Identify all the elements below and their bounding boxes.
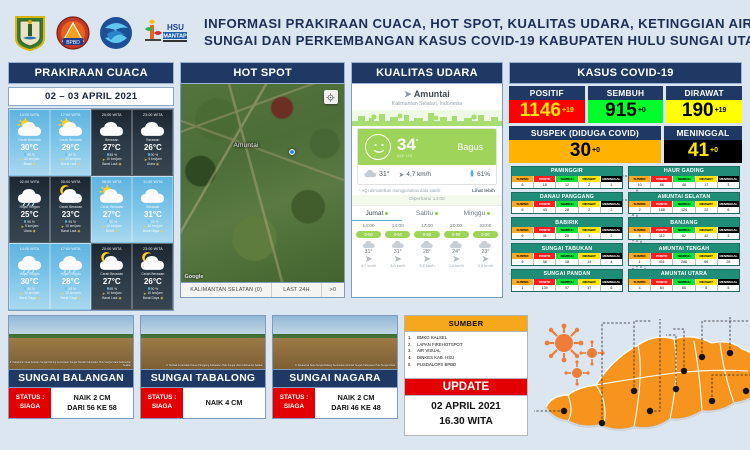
district-value-row: 4846665 [629,285,739,291]
source-item: 1.BMKG KALSEL [408,335,523,342]
hotspot-satellite-map[interactable]: Amuntai Google [180,84,345,283]
update-body: 02 APRIL 2021 16.30 WITA [404,396,528,436]
air-quality-note-row: * AQI dimodelkan menggunakan data sateli… [352,185,502,195]
update-date: 02 APRIL 2021 [405,400,527,415]
aqi-number: 34 [397,135,416,154]
bottom-row: Jl. Pakapuran Desa Antasan Sungai Muning… [0,311,750,448]
air-quality-note: * AQI dimodelkan menggunakan data sateli… [359,188,440,193]
air-quality-city: ➤ Amuntai [352,89,502,100]
source-item: 2.LAPAN FIREHOTSPOT [408,342,523,349]
covid-stat-box: MENINGGAL41+0 [664,126,742,163]
source-title: SUMBER [404,315,528,332]
cloud-icon [134,184,171,206]
district-value: 2 [601,207,622,213]
map-terrain-texture [181,84,344,282]
gps-target-icon[interactable] [324,90,338,104]
hour-wind: 3,6 km/h [412,263,441,268]
hour-aqi-range: 0-50 [385,231,410,238]
river-level-change: NAIK 4 CM [183,388,265,418]
metric-temp-value: 31° [379,171,390,178]
district-value: 168 [651,207,673,213]
district-value: 4 [601,259,622,265]
hour-aqi-range: 0-50 [444,231,469,238]
weather-cell-desc: Cerah Berawan [52,139,89,143]
district-card[interactable]: HAUR GADINGSUSPEKPOSITIFSEMBUHDIRAWATMEN… [628,166,740,189]
air-quality-hourly: 14:000-5031°➤4,7 km/h14:000-5031°➤3,6 km… [352,221,502,268]
covid-stat-value: 1146 [520,100,561,121]
covid-stat-label: SEMBUH [588,86,664,100]
district-value: 4 [629,285,651,291]
river-status-row: STATUS :SIAGANAIK 2 CMDARI 56 KE 58 [8,388,134,419]
weather-cell-desc: Cerah Berawan [93,206,130,210]
district-name: BABIRIK [512,218,622,227]
district-value-row: 6432822 [512,207,622,213]
weather-cell-time: 14:00 WITA [11,247,48,251]
district-value: 1 [579,233,601,239]
district-card[interactable]: AMUNTAI SELATANSUSPEKPOSITIFSEMBUHDIRAWA… [628,192,740,215]
weather-cell-winddir: Barat Daya ◉ [134,229,171,233]
hsu-mantap-logo-icon: HSU MANTAP [141,14,189,52]
metric-temperature: 31° [364,169,390,180]
source-list: 1.BMKG KALSEL2.LAPAN FIREHOTSPOT3.AIR VI… [404,332,528,379]
weather-cell-winddir: Barat Laut ◉ [93,162,130,166]
district-value: 3 [718,182,739,188]
district-value: 18 [534,182,556,188]
rain-cloud-icon [11,251,48,273]
virus-icon-group [545,324,605,386]
covid-stats-row-2: SUSPEK (DIDUGA COVID)30+0MENINGGAL41+0 [509,126,742,163]
wind-direction-icon: ➤ [412,255,441,263]
district-value: 17 [579,285,601,291]
river-status-value: SIAGA [20,403,40,412]
cloud-icon [354,240,383,249]
covid-stat-label: MENINGGAL [664,126,742,140]
map-city-label: Amuntai [233,142,258,149]
air-quality-day-tab[interactable]: Sabtu [402,206,452,221]
district-name: AMUNTAI TENGAH [629,244,739,253]
district-value: 3 [718,233,739,239]
district-value: 66 [696,259,718,265]
water-drop-icon [469,169,475,180]
weather-cell-desc: Berawan [134,139,171,143]
district-card[interactable]: AMUNTAI UTARASUSPEKPOSITIFSEMBUHDIRAWATM… [628,269,740,292]
source-item-number: 3. [408,348,414,355]
aqi-value-block: 34° AQI US [397,136,418,158]
hour-time: 20:00 [442,224,471,229]
district-name: DANAU PANGGANG [512,193,622,202]
cloud-icon [364,169,377,180]
air-quality-updated: Diperbarui 14:00 [352,195,502,205]
river-status-label: STATUS : [16,394,45,403]
district-value: 2 [579,207,601,213]
metric-humidity: 61% [469,169,490,180]
moon-cloud-icon [93,251,130,273]
weather-cell-time: 05:00 WITA [52,180,89,184]
district-value: 84 [651,285,673,291]
district-value: 6 [512,207,534,213]
district-value: 124 [673,207,695,213]
district-card[interactable]: BANJANGSUSPEKPOSITIFSEMBUHDIRAWATMENINGG… [628,217,740,240]
hour-aqi-range: 0-50 [356,231,381,238]
district-value: 66 [673,285,695,291]
weather-cell: 14:00 WITAHujan Ringan30°C80 %➤10 km/jam… [9,243,50,310]
weather-cell-temp: 28°C [52,277,89,287]
hotspot-legend-bar: KALIMANTAN SELATAN (0) LAST 24H >0 [180,283,345,298]
river-name: SUNGAI BALANGAN [8,370,134,388]
covid-stat-box: POSITIF1146+19 [509,86,585,123]
weather-cell-temp: 27°C [93,277,130,287]
river-panel: Jl. Sukaramai Desa Sungai Malang Kecamat… [272,315,398,419]
district-value: 14 [579,259,601,265]
page-title: INFORMASI PRAKIRAAN CUACA, HOT SPOT, KUA… [204,16,750,50]
kabupaten-hsu-crest-icon [12,14,48,52]
river-status-value: SIAGA [284,403,304,412]
river-change: NAIK 4 CM [206,398,243,408]
hour-aqi-range: 0-50 [414,231,439,238]
happy-face-icon [365,134,391,160]
sun-cloud-icon [11,117,48,139]
weather-cell: 05:00 WITACerah Berawan23°C95 %➤10 km/ja… [50,176,91,243]
air-quality-hour-cell: 20:000-5024°➤3,6 km/h [442,224,471,268]
district-card[interactable]: BABIRIKSUSPEKPOSITIFSEMBUHDIRAWATMENINGG… [511,217,623,240]
weather-cell-time: 02:00 WITA [11,180,48,184]
svg-text:BPBD: BPBD [66,40,80,46]
update-title: UPDATE [404,379,528,396]
air-quality-header: ➤ Amuntai Kalimantan Selatan, Indonesia [352,84,502,108]
district-value: 5 [718,285,739,291]
district-name: HAUR GADING [629,167,739,176]
air-quality-hour-cell: 14:000-5031°➤3,6 km/h [383,224,412,268]
weather-cell-temp: 26°C [134,277,171,287]
sun-cloud-icon [93,184,130,206]
covid-stat-delta: +0 [638,107,646,114]
weather-cell-temp: 27°C [93,210,130,220]
source-item-label: AIR VISUAL [417,348,441,355]
covid-stat-label: POSITIF [509,86,585,100]
hour-wind: 3,6 km/h [442,263,471,268]
weather-cell-time: 14:00 WITA [11,113,48,117]
district-value: 6 [512,233,534,239]
river-level-change: NAIK 2 CMDARI 46 KE 48 [315,388,397,418]
cloud-icon [134,117,171,139]
weather-cell-temp: 31°C [134,210,171,220]
covid-stat-box: SUSPEK (DIDUGA COVID)30+0 [509,126,661,163]
covid-stat-value-box: 915+0 [588,100,664,123]
wind-direction-icon: ➤ [383,255,412,263]
moon-cloud-icon [134,251,171,273]
air-quality-day-tab[interactable]: Minggu [452,206,502,221]
weather-cell-winddir: Barat ◉ [11,162,48,166]
covid-stats-row-1: POSITIF1146+19SEMBUH915+0DIRAWAT190+19 [509,86,742,123]
weather-grid: 14:00 WITACerah Berawan30°C80 %➤20 km/ja… [8,108,174,311]
river-status: STATUS :SIAGA [273,388,315,418]
district-value: 66 [651,182,673,188]
weather-cell-temp: 23°C [52,210,89,220]
district-name: BANJANG [629,218,739,227]
aqi-quality-label: Bagus [457,142,483,152]
photo-caption: Jl. Sukaramai Desa Sungai Malang Kecamat… [295,365,395,368]
weather-cell-time: 23:00 WITA [134,247,171,251]
district-value-row: 611262423 [629,233,739,239]
weather-cell-temp: 27°C [93,143,130,153]
district-value: 48 [673,182,695,188]
district-value: 6 [601,285,622,291]
covid-stat-value: 915 [605,100,637,121]
district-name: SUNGAI TABUKAN [512,244,622,253]
source-item-label: PUSDALOPS BPBD [417,362,456,369]
river-detail: DARI 56 KE 58 [67,403,117,413]
weather-cell: 20:00 WITABerawan27°C85 %➤10 km/jamBarat… [91,109,132,176]
air-quality-day-tab[interactable]: Jumat [352,206,402,221]
weather-cell: 02:00 WITAHujan Ringan25°C95 %➤5 km/jamU… [9,176,50,243]
source-update-panel: SUMBER 1.BMKG KALSEL2.LAPAN FIREHOTSPOT3… [404,315,528,436]
page-header: BPBD HSU MANTAP [0,0,750,62]
district-value: 12 [556,182,578,188]
source-item-label: LAPAN FIREHOTSPOT [417,342,463,349]
district-value: 97 [556,285,578,291]
covid-stat-label: SUSPEK (DIDUGA COVID) [509,126,661,140]
weather-cell-time: 17:00 WITA [52,113,89,117]
air-quality-body: ➤ Amuntai Kalimantan Selatan, Indonesia [351,84,503,298]
weather-cell-desc: Cerah Berawan [93,273,130,277]
district-value: 6 [512,259,534,265]
sun-cloud-icon [52,117,89,139]
air-quality-metrics: 31° ➤ 4,7 km/h 61% [358,165,496,184]
aqi-value: 34° [397,136,418,153]
weather-cell-desc: Cerah Berawan [11,139,48,143]
air-quality-region: Kalimantan Selatan, Indonesia [352,101,502,107]
hour-wind: 3,6 km/h [383,263,412,268]
covid-stat-value-box: 41+0 [664,140,742,163]
district-value: 41 [534,233,556,239]
logo-group: BPBD HSU MANTAP [12,14,189,52]
title-line-2: SUNGAI DAN PERKEMBANGAN KASUS COVID-19 K… [204,33,750,50]
weather-cell-desc: Hujan Ringan [52,273,89,277]
district-value: 28 [556,233,578,239]
weather-cell-time: 23:00 WITA [134,113,171,117]
weather-cell-desc: Berawan [93,139,130,143]
air-quality-hour-cell: 17:000-5028°➤3,6 km/h [412,224,441,268]
water-gauge-photo: Jl. Sukaramai Desa Sungai Malang Kecamat… [272,315,398,370]
hour-time: 14:00 [354,224,383,229]
air-quality-panel: KUALITAS UDARA ➤ Amuntai Kalimantan Sela… [351,62,503,298]
district-value: 22 [696,207,718,213]
cloud-icon [383,240,412,249]
district-value: 112 [651,233,673,239]
district-value-row: 14012886626 [629,259,739,265]
source-item: 3.AIR VISUAL [408,348,523,355]
district-value: 2 [601,233,622,239]
svg-text:HSU: HSU [167,23,184,32]
hotspot-count-label[interactable]: >0 [322,283,344,297]
district-value: 6 [696,285,718,291]
hotspot-region-label[interactable]: KALIMANTAN SELATAN (0) [181,283,272,297]
cloud-icon [93,117,130,139]
air-quality-city-label: Amuntai [414,89,450,99]
district-column-left: PAMINGGIRSUSPEKPOSITIFSEMBUHDIRAWATMENIN… [511,166,623,295]
district-value: 2 [629,207,651,213]
bridge-river-photo: Jl. Pakapuran Desa Antasan Sungai Muning… [8,315,134,370]
update-time: 16.30 WITA [405,415,527,430]
district-value: 43 [534,207,556,213]
air-quality-more-link[interactable]: Lihat lebih [472,188,495,193]
river-status: STATUS :SIAGA [141,388,183,418]
covid-stat-value-box: 1146+19 [509,100,585,123]
district-card[interactable]: DANAU PANGGANGSUSPEKPOSITIFSEMBUHDIRAWAT… [511,192,623,215]
district-value: 1 [512,285,534,291]
district-value-row: 2168124226 [629,207,739,213]
hotspot-panel: HOT SPOT Amuntai Google [180,62,345,298]
district-value: 401 [651,259,673,265]
rain-cloud-icon [11,184,48,206]
aqi-summary: 34° AQI US Bagus [358,129,496,165]
district-value: 18 [556,259,578,265]
covid-stat-delta: +0 [710,147,718,154]
hour-time: 23:00 [471,224,500,229]
district-value: 62 [673,233,695,239]
weather-cell-desc: Hujan Ringan [11,206,48,210]
weather-cell-desc: Cerah Berawan [52,206,89,210]
district-value: 10 [629,182,651,188]
air-quality-panel-title: KUALITAS UDARA [351,62,503,84]
weather-cell-winddir: Barat Laut ◉ [52,229,89,233]
wind-direction-icon: ➤ [354,255,383,263]
source-item-number: 4. [408,355,414,362]
district-value: 139 [534,285,556,291]
river-status: STATUS :SIAGA [9,388,51,418]
skyline-graphic-icon [352,110,502,126]
weather-cell: 17:00 WITAHujan Ringan28°C85 %➤10 km/jam… [50,243,91,310]
weather-cell-time: 20:00 WITA [93,113,130,117]
weather-cell-desc: Berawan [134,206,171,210]
source-item-number: 1. [408,335,414,342]
covid-stat-value: 30 [570,140,591,161]
weather-cell: 14:00 WITACerah Berawan30°C80 %➤20 km/ja… [9,109,50,176]
air-quality-hour-cell: 23:000-5023°➤3,6 km/h [471,224,500,268]
source-item: 4.DINKES KAB. HSU [408,355,523,362]
weather-cell-desc: Cerah Berawan [134,273,171,277]
weather-cell-temp: 25°C [11,210,48,220]
river-level-change: NAIK 2 CMDARI 56 KE 58 [51,388,133,418]
weather-cell-winddir: Barat Laut ◉ [52,162,89,166]
source-item-label: BMKG KALSEL [417,335,447,342]
air-quality-day-tabs: JumatSabtuMinggu [352,205,502,221]
district-value: 17 [696,182,718,188]
river-panel: Jl. Tambak Kecamatan Danau Panggang Kabu… [140,315,266,419]
district-value: 2 [579,182,601,188]
weather-cell: 23:00 WITACerah Berawan26°C90 %➤10 km/ja… [132,243,173,310]
weather-cell-winddir: Utara ◉ [11,229,48,233]
weather-cell-winddir: Barat Daya ◉ [52,296,89,300]
river-status-label: STATUS : [280,394,309,403]
hour-time: 17:00 [412,224,441,229]
wind-direction-icon: ➤ [442,255,471,263]
svg-text:MANTAP: MANTAP [163,34,187,40]
district-name: PAMINGGIR [512,167,622,176]
weather-cell-winddir: Barat ◉ [93,229,130,233]
weather-cell-winddir: Barat Laut ◉ [93,296,130,300]
covid-stat-value-box: 30+0 [509,140,661,163]
district-card[interactable]: SUNGAI PANDANSUSPEKPOSITIFSEMBUHDIRAWATM… [511,269,623,292]
bmkg-logo-icon [98,14,134,52]
hour-time: 14:00 [383,224,412,229]
covid-stat-box: DIRAWAT190+19 [666,86,742,123]
dashboard-page: BPBD HSU MANTAP [0,0,750,450]
weather-cell: 20:00 WITACerah Berawan27°C85 %➤10 km/ja… [91,243,132,310]
river-status-row: STATUS :SIAGANAIK 2 CMDARI 46 KE 48 [272,388,398,419]
covid-stats: POSITIF1146+19SEMBUH915+0DIRAWAT190+19 S… [509,86,742,163]
district-value: 6 [512,182,534,188]
district-value: 288 [673,259,695,265]
weather-cell: 23:00 WITABerawan26°C90 %➤5 km/jamUtara … [132,109,173,176]
cloud-icon [412,240,441,249]
district-value-row: 63818144 [512,259,622,265]
weather-date-range: 02 – 03 APRIL 2021 [8,87,174,106]
weather-cell-desc: Hujan Ringan [11,273,48,277]
moon-cloud-icon [52,184,89,206]
hour-aqi-range: 0-50 [473,231,498,238]
cloud-icon [442,240,471,249]
hour-wind: 3,6 km/h [471,263,500,268]
hsu-district-map[interactable] [534,315,742,448]
river-change: NAIK 2 CM [74,393,111,403]
district-value: 26 [718,259,739,265]
district-value: 38 [534,259,556,265]
district-card[interactable]: SUNGAI TABUKANSUSPEKPOSITIFSEMBUHDIRAWAT… [511,243,623,266]
district-breakdown: PAMINGGIRSUSPEKPOSITIFSEMBUHDIRAWATMENIN… [509,166,742,291]
weather-cell-time: 17:00 WITA [52,247,89,251]
main-panels-row: PRAKIRAAN CUACA 02 – 03 APRIL 2021 14:00… [0,62,750,311]
district-card[interactable]: AMUNTAI TENGAHSUSPEKPOSITIFSEMBUHDIRAWAT… [628,243,740,266]
district-value: 6 [718,207,739,213]
district-value: 6 [629,233,651,239]
weather-cell-temp: 30°C [11,143,48,153]
hour-wind: 4,7 km/h [354,263,383,268]
district-value: 42 [696,233,718,239]
wind-direction-icon: ➤ [399,171,405,179]
district-name: AMUNTAI UTARA [629,270,739,279]
weather-cell-temp: 29°C [52,143,89,153]
weather-cell-winddir: Barat Daya ◉ [11,296,48,300]
district-value: 1 [629,259,651,265]
district-value-row: 106648173 [629,182,739,188]
location-arrow-icon: ➤ [404,89,412,99]
covid-stat-delta: +19 [562,107,574,114]
district-value: 1 [601,182,622,188]
covid-stat-value: 41 [688,140,709,161]
district-name: AMUNTAI SELATAN [629,193,739,202]
covid-stat-delta: +0 [592,147,600,154]
photo-caption: Jl. Pakapuran Desa Antasan Sungai Muning… [9,362,131,368]
river-village-photo: Jl. Tambak Kecamatan Danau Panggang Kabu… [140,315,266,370]
weather-cell-temp: 30°C [11,277,48,287]
district-card[interactable]: PAMINGGIRSUSPEKPOSITIFSEMBUHDIRAWATMENIN… [511,166,623,189]
weather-cell-time: 11:00 WITA [134,180,171,184]
weather-cell-winddir: Barat Daya ◉ [134,296,171,300]
source-item: 5.PUSDALOPS BPBD [408,362,523,369]
district-value-row: 6181221 [512,182,622,188]
metric-humidity-value: 61% [477,171,490,178]
hotspot-period-label[interactable]: LAST 24H [272,283,322,297]
title-line-1: INFORMASI PRAKIRAAN CUACA, HOT SPOT, KUA… [204,16,750,33]
covid-stat-delta: +19 [715,107,727,114]
covid-panel: KASUS COVID-19 POSITIF1146+19SEMBUH915+0… [509,62,742,291]
covid-stat-value: 190 [682,100,714,121]
river-panels: Jl. Pakapuran Desa Antasan Sungai Muning… [8,315,398,419]
air-quality-hour-cell: 14:000-5031°➤4,7 km/h [354,224,383,268]
covid-stat-box: SEMBUH915+0 [588,86,664,123]
covid-stat-label: DIRAWAT [666,86,742,100]
